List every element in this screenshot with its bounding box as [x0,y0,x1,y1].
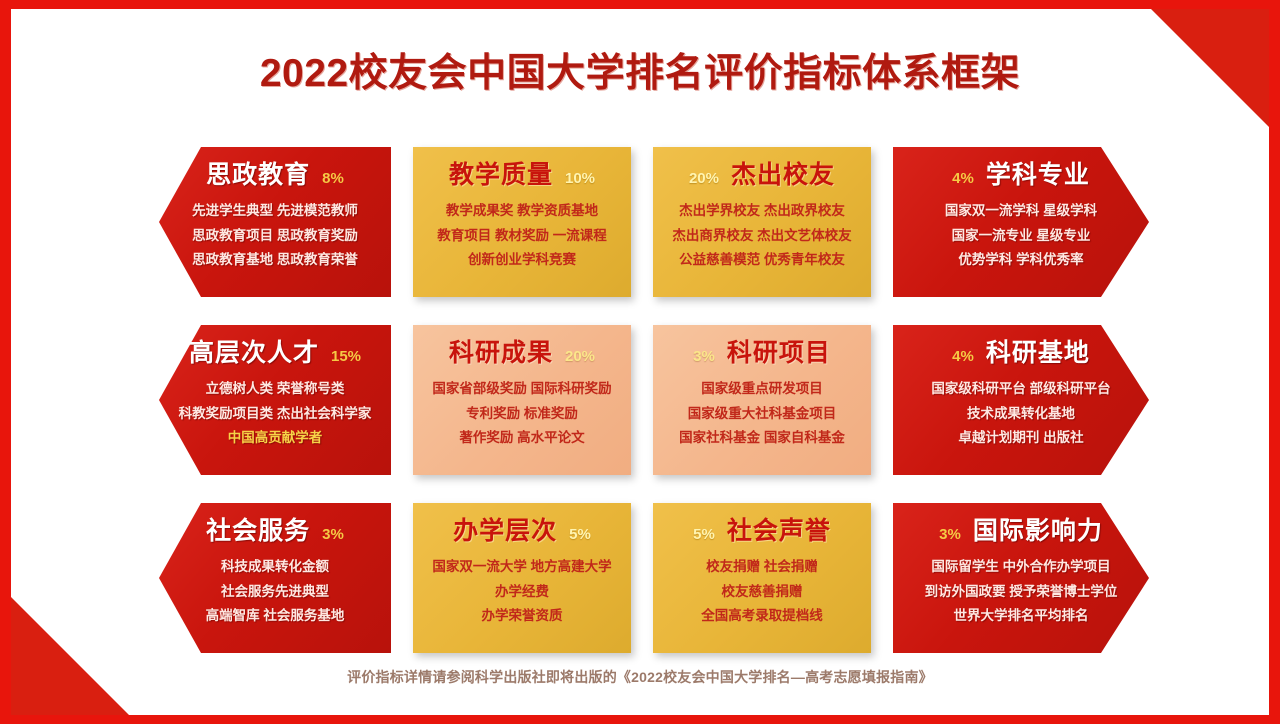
card-title: 学科专业 [986,163,1090,188]
card-indicator-line: 国家社科基金 国家自科基金 [663,431,861,445]
card-indicator-list: 国家双一流大学 地方高建大学办学经费办学荣誉资质 [413,560,631,623]
card-indicator-line: 杰出学界校友 杰出政界校友 [663,204,861,218]
indicator-cell: 社会服务3%科技成果转化金额社会服务先进典型高端智库 社会服务基地 [159,503,391,653]
indicator-card[interactable]: 3%科研项目国家级重点研发项目国家级重大社科基金项目国家社科基金 国家自科基金 [653,325,871,475]
card-indicator-line: 校友捐赠 社会捐赠 [663,560,861,574]
indicator-cell: 3%国际影响力国际留学生 中外合作办学项目到访外国政要 授予荣誉博士学位世界大学… [893,503,1149,653]
card-title: 国际影响力 [973,519,1103,544]
card-weight-percent: 5% [569,527,591,542]
indicator-cell: 思政教育8%先进学生典型 先进模范教师思政教育项目 思政教育奖励思政教育基地 思… [159,147,391,297]
card-indicator-line: 国家级科研平台 部级科研平台 [903,382,1139,396]
card-title: 科研基地 [986,341,1090,366]
indicator-grid: 思政教育8%先进学生典型 先进模范教师思政教育项目 思政教育奖励思政教育基地 思… [159,147,1149,681]
indicator-card[interactable]: 20%杰出校友杰出学界校友 杰出政界校友杰出商界校友 杰出文艺体校友公益慈善模范… [653,147,871,297]
card-weight-percent: 8% [322,171,344,186]
card-indicator-list: 国家省部级奖励 国际科研奖励专利奖励 标准奖励著作奖励 高水平论文 [413,382,631,445]
card-weight-percent: 3% [939,527,961,542]
card-weight-percent: 3% [322,527,344,542]
card-header: 教学质量10% [413,163,631,193]
infographic-page: 2022校友会中国大学排名评价指标体系框架 思政教育8%先进学生典型 先进模范教… [0,0,1280,724]
card-weight-percent: 4% [952,349,974,364]
card-indicator-line: 技术成果转化基地 [903,407,1139,421]
card-weight-percent: 5% [693,527,715,542]
card-indicator-line: 先进学生典型 先进模范教师 [169,204,381,218]
card-indicator-line: 办学经费 [423,585,621,599]
card-indicator-list: 先进学生典型 先进模范教师思政教育项目 思政教育奖励思政教育基地 思政教育荣誉 [159,204,391,267]
card-title: 办学层次 [453,519,557,544]
card-indicator-line: 杰出商界校友 杰出文艺体校友 [663,229,861,243]
card-title: 科研项目 [727,341,831,366]
corner-decoration-bottom-left [11,597,129,715]
card-indicator-line: 立德树人类 荣誉称号类 [169,382,381,396]
card-header: 4%学科专业 [893,163,1149,193]
indicator-cell: 科研成果20%国家省部级奖励 国际科研奖励专利奖励 标准奖励著作奖励 高水平论文 [413,325,631,475]
card-indicator-line: 卓越计划期刊 出版社 [903,431,1139,445]
card-indicator-list: 国家级重点研发项目国家级重大社科基金项目国家社科基金 国家自科基金 [653,382,871,445]
card-indicator-list: 国际留学生 中外合作办学项目到访外国政要 授予荣誉博士学位世界大学排名平均排名 [893,560,1149,623]
indicator-cell: 办学层次5%国家双一流大学 地方高建大学办学经费办学荣誉资质 [413,503,631,653]
card-indicator-line: 创新创业学科竞赛 [423,253,621,267]
indicator-card[interactable]: 社会服务3%科技成果转化金额社会服务先进典型高端智库 社会服务基地 [159,503,391,653]
card-title: 科研成果 [449,341,553,366]
card-title: 高层次人才 [189,341,319,366]
indicator-card[interactable]: 高层次人才15%立德树人类 荣誉称号类科教奖励项目类 杰出社会科学家中国高贡献学… [159,325,391,475]
card-indicator-list: 国家级科研平台 部级科研平台技术成果转化基地卓越计划期刊 出版社 [893,382,1149,445]
indicator-card[interactable]: 思政教育8%先进学生典型 先进模范教师思政教育项目 思政教育奖励思政教育基地 思… [159,147,391,297]
card-indicator-line: 到访外国政要 授予荣誉博士学位 [903,585,1139,599]
card-indicator-line: 专利奖励 标准奖励 [423,407,621,421]
card-indicator-list: 科技成果转化金额社会服务先进典型高端智库 社会服务基地 [159,560,391,623]
card-title: 教学质量 [449,163,553,188]
indicator-cell: 3%科研项目国家级重点研发项目国家级重大社科基金项目国家社科基金 国家自科基金 [653,325,871,475]
card-indicator-line: 高端智库 社会服务基地 [169,609,381,623]
card-header: 社会服务3% [159,519,391,549]
card-indicator-line: 优势学科 学科优秀率 [903,253,1139,267]
card-weight-percent: 4% [952,171,974,186]
indicator-cell: 高层次人才15%立德树人类 荣誉称号类科教奖励项目类 杰出社会科学家中国高贡献学… [159,325,391,475]
card-indicator-line: 国际留学生 中外合作办学项目 [903,560,1139,574]
card-title: 杰出校友 [731,163,835,188]
footer-note: 评价指标详情请参阅科学出版社即将出版的《2022校友会中国大学排名—高考志愿填报… [11,667,1269,687]
card-indicator-line: 国家一流专业 星级专业 [903,229,1139,243]
card-indicator-line: 全国高考录取提档线 [663,609,861,623]
card-header: 科研成果20% [413,341,631,371]
card-indicator-line: 著作奖励 高水平论文 [423,431,621,445]
indicator-card[interactable]: 5%社会声誉校友捐赠 社会捐赠校友慈善捐赠全国高考录取提档线 [653,503,871,653]
card-header: 3%科研项目 [653,341,871,371]
card-header: 3%国际影响力 [893,519,1149,549]
card-weight-percent: 10% [565,171,595,186]
card-indicator-line: 校友慈善捐赠 [663,585,861,599]
indicator-cell: 4%学科专业国家双一流学科 星级学科国家一流专业 星级专业优势学科 学科优秀率 [893,147,1149,297]
indicator-card[interactable]: 办学层次5%国家双一流大学 地方高建大学办学经费办学荣誉资质 [413,503,631,653]
card-weight-percent: 3% [693,349,715,364]
card-weight-percent: 20% [689,171,719,186]
indicator-row: 高层次人才15%立德树人类 荣誉称号类科教奖励项目类 杰出社会科学家中国高贡献学… [159,325,1149,475]
card-indicator-line: 社会服务先进典型 [169,585,381,599]
indicator-row: 思政教育8%先进学生典型 先进模范教师思政教育项目 思政教育奖励思政教育基地 思… [159,147,1149,297]
card-indicator-line: 科教奖励项目类 杰出社会科学家 [169,407,381,421]
card-indicator-list: 杰出学界校友 杰出政界校友杰出商界校友 杰出文艺体校友公益慈善模范 优秀青年校友 [653,204,871,267]
card-indicator-line: 思政教育项目 思政教育奖励 [169,229,381,243]
card-indicator-line: 公益慈善模范 优秀青年校友 [663,253,861,267]
card-indicator-line: 办学荣誉资质 [423,609,621,623]
card-header: 思政教育8% [159,163,391,193]
card-weight-percent: 20% [565,349,595,364]
card-header: 5%社会声誉 [653,519,871,549]
card-indicator-line: 国家双一流学科 星级学科 [903,204,1139,218]
card-indicator-line: 国家级重点研发项目 [663,382,861,396]
card-indicator-list: 国家双一流学科 星级学科国家一流专业 星级专业优势学科 学科优秀率 [893,204,1149,267]
card-indicator-line: 科技成果转化金额 [169,560,381,574]
indicator-card[interactable]: 4%科研基地国家级科研平台 部级科研平台技术成果转化基地卓越计划期刊 出版社 [893,325,1149,475]
indicator-card[interactable]: 4%学科专业国家双一流学科 星级学科国家一流专业 星级专业优势学科 学科优秀率 [893,147,1149,297]
indicator-card[interactable]: 科研成果20%国家省部级奖励 国际科研奖励专利奖励 标准奖励著作奖励 高水平论文 [413,325,631,475]
card-weight-percent: 15% [331,349,361,364]
card-indicator-line: 国家省部级奖励 国际科研奖励 [423,382,621,396]
card-header: 办学层次5% [413,519,631,549]
indicator-cell: 5%社会声誉校友捐赠 社会捐赠校友慈善捐赠全国高考录取提档线 [653,503,871,653]
card-indicator-list: 校友捐赠 社会捐赠校友慈善捐赠全国高考录取提档线 [653,560,871,623]
card-indicator-list: 教学成果奖 教学资质基地教育项目 教材奖励 一流课程创新创业学科竞赛 [413,204,631,267]
indicator-cell: 教学质量10%教学成果奖 教学资质基地教育项目 教材奖励 一流课程创新创业学科竞… [413,147,631,297]
card-header: 20%杰出校友 [653,163,871,193]
card-indicator-line: 世界大学排名平均排名 [903,609,1139,623]
card-indicator-line: 国家级重大社科基金项目 [663,407,861,421]
card-header: 4%科研基地 [893,341,1149,371]
card-indicator-line: 教育项目 教材奖励 一流课程 [423,229,621,243]
indicator-row: 社会服务3%科技成果转化金额社会服务先进典型高端智库 社会服务基地办学层次5%国… [159,503,1149,653]
card-title: 社会服务 [206,519,310,544]
card-indicator-line: 思政教育基地 思政教育荣誉 [169,253,381,267]
card-title: 思政教育 [206,163,310,188]
card-title: 社会声誉 [727,519,831,544]
card-indicator-line: 教学成果奖 教学资质基地 [423,204,621,218]
card-indicator-line: 中国高贡献学者 [169,431,381,445]
card-indicator-list: 立德树人类 荣誉称号类科教奖励项目类 杰出社会科学家中国高贡献学者 [159,382,391,445]
page-title: 2022校友会中国大学排名评价指标体系框架 [11,42,1269,98]
indicator-card[interactable]: 3%国际影响力国际留学生 中外合作办学项目到访外国政要 授予荣誉博士学位世界大学… [893,503,1149,653]
card-indicator-line: 国家双一流大学 地方高建大学 [423,560,621,574]
card-header: 高层次人才15% [159,341,391,371]
indicator-cell: 20%杰出校友杰出学界校友 杰出政界校友杰出商界校友 杰出文艺体校友公益慈善模范… [653,147,871,297]
indicator-cell: 4%科研基地国家级科研平台 部级科研平台技术成果转化基地卓越计划期刊 出版社 [893,325,1149,475]
indicator-card[interactable]: 教学质量10%教学成果奖 教学资质基地教育项目 教材奖励 一流课程创新创业学科竞… [413,147,631,297]
